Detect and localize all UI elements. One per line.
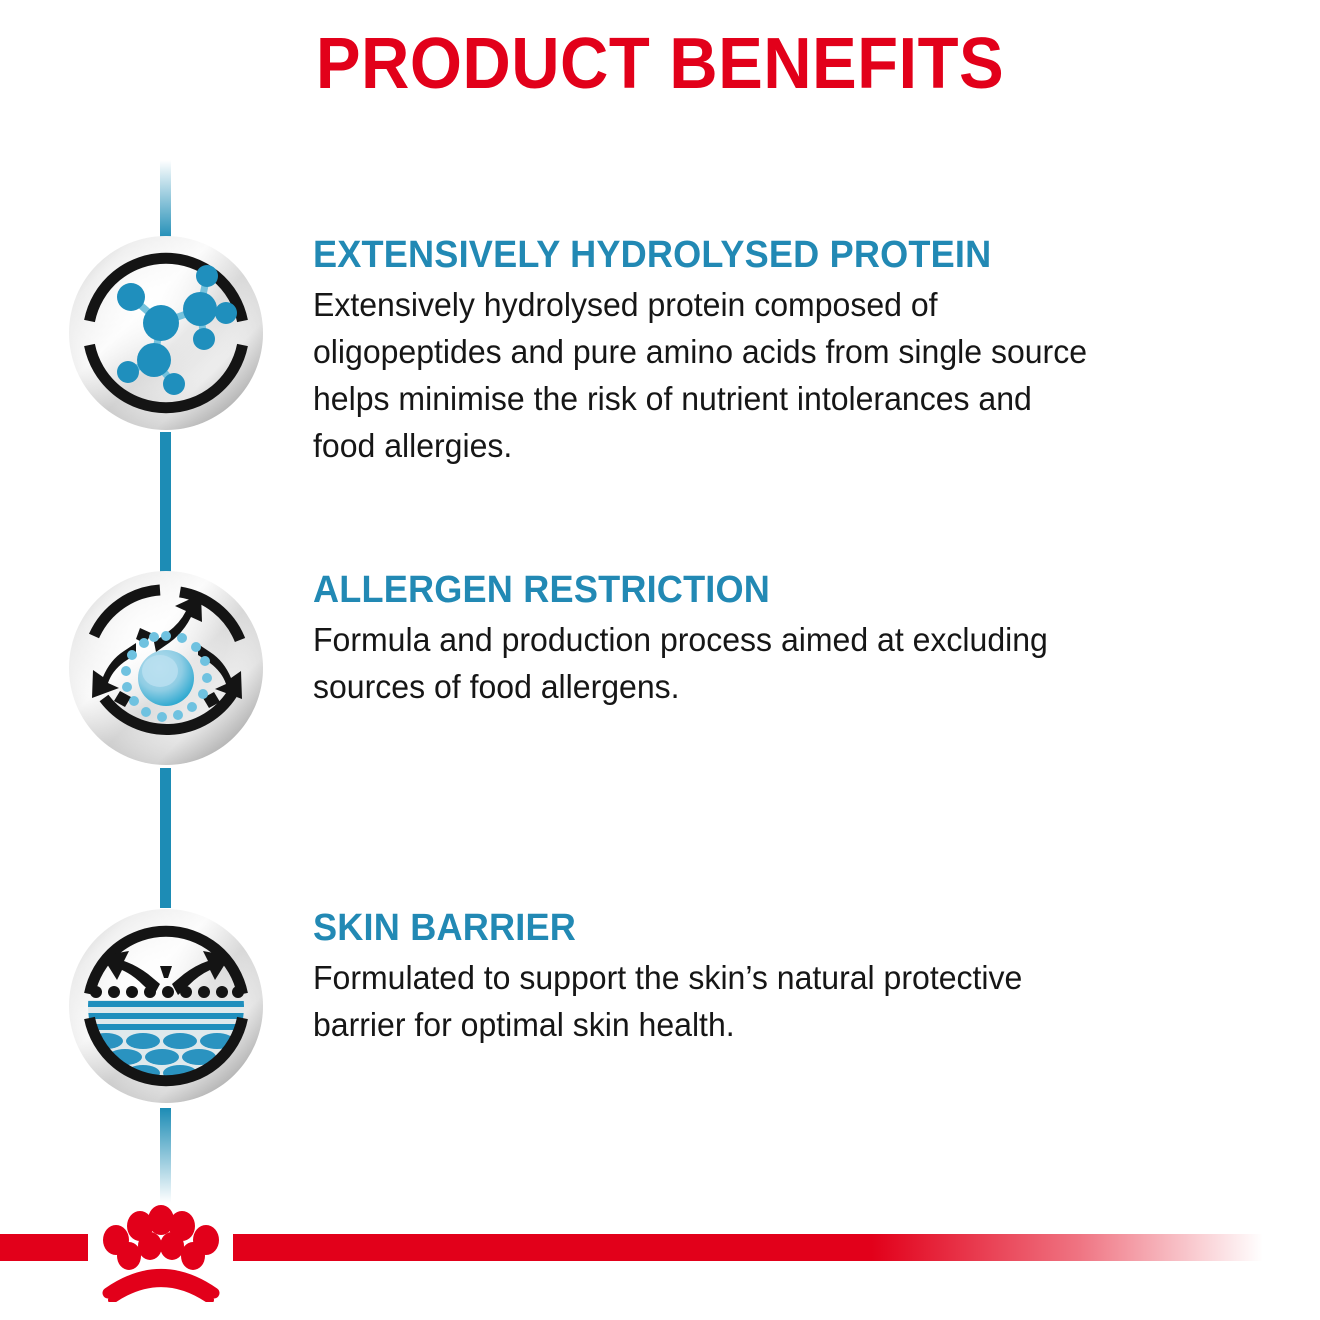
benefit-text-1: EXTENSIVELY HYDROLYSED PROTEIN Extensive… xyxy=(313,235,1283,469)
benefit-title-1: EXTENSIVELY HYDROLYSED PROTEIN xyxy=(313,235,1235,276)
allergen-restriction-icon xyxy=(68,570,264,766)
benefit-title-2: ALLERGEN RESTRICTION xyxy=(313,570,1235,611)
footer-bar-right xyxy=(233,1234,1263,1261)
footer xyxy=(0,1234,1320,1320)
benefit-title-3: SKIN BARRIER xyxy=(313,908,1235,949)
benefit-text-2: ALLERGEN RESTRICTION Formula and product… xyxy=(313,570,1283,711)
benefit-body-1: Extensively hydrolysed protein composed … xyxy=(313,282,1254,469)
footer-bar-left xyxy=(0,1234,88,1261)
connector-line-1 xyxy=(160,432,171,572)
benefit-text-3: SKIN BARRIER Formulated to support the s… xyxy=(313,908,1283,1049)
connector-line-2 xyxy=(160,768,171,908)
skin-barrier-icon xyxy=(68,908,264,1104)
molecule-icon xyxy=(68,235,264,431)
connector-line-bottom xyxy=(160,1108,171,1203)
benefit-body-3: Formulated to support the skin’s natural… xyxy=(313,955,1254,1049)
benefit-body-2: Formula and production process aimed at … xyxy=(313,617,1254,711)
connector-line-top xyxy=(160,160,171,240)
royal-canin-crown-logo xyxy=(88,1198,234,1302)
page-title: PRODUCT BENEFITS xyxy=(46,28,1274,100)
